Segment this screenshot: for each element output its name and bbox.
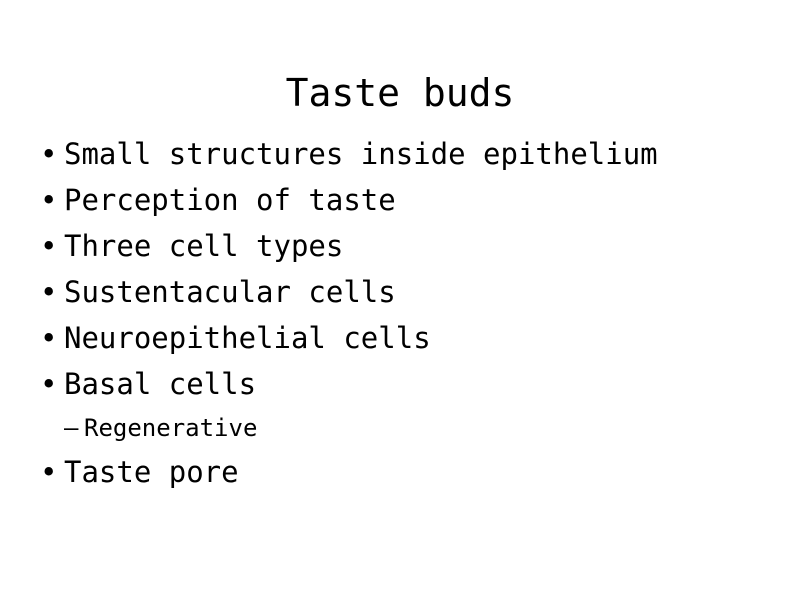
- list-item-label: Basal cells: [64, 361, 256, 407]
- list-item-label: Small structures inside epithelium: [64, 131, 658, 177]
- list-item-label: Three cell types: [64, 223, 343, 269]
- round-bullet-icon: •: [40, 131, 64, 177]
- list-item-label: Regenerative: [84, 407, 257, 449]
- dash-bullet-icon: –: [64, 407, 84, 449]
- list-item-label: Sustentacular cells: [64, 269, 396, 315]
- list-item: •Small structures inside epithelium: [40, 131, 780, 177]
- round-bullet-icon: •: [40, 315, 64, 361]
- round-bullet-icon: •: [40, 177, 64, 223]
- round-bullet-icon: •: [40, 223, 64, 269]
- list-item: •Three cell types: [40, 223, 780, 269]
- list-item: •Sustentacular cells: [40, 269, 780, 315]
- round-bullet-icon: •: [40, 449, 64, 495]
- presentation-slide: Taste buds •Small structures inside epit…: [0, 0, 800, 600]
- round-bullet-icon: •: [40, 361, 64, 407]
- list-item-label: Perception of taste: [64, 177, 396, 223]
- list-item: •Perception of taste: [40, 177, 780, 223]
- list-item: –Regenerative: [40, 407, 780, 449]
- list-item: •Neuroepithelial cells: [40, 315, 780, 361]
- list-item-label: Neuroepithelial cells: [64, 315, 431, 361]
- round-bullet-icon: •: [40, 269, 64, 315]
- list-item: •Basal cells: [40, 361, 780, 407]
- slide-title: Taste buds: [0, 71, 800, 115]
- bullet-list: •Small structures inside epithelium•Perc…: [40, 131, 780, 495]
- list-item: •Taste pore: [40, 449, 780, 495]
- list-item-label: Taste pore: [64, 449, 239, 495]
